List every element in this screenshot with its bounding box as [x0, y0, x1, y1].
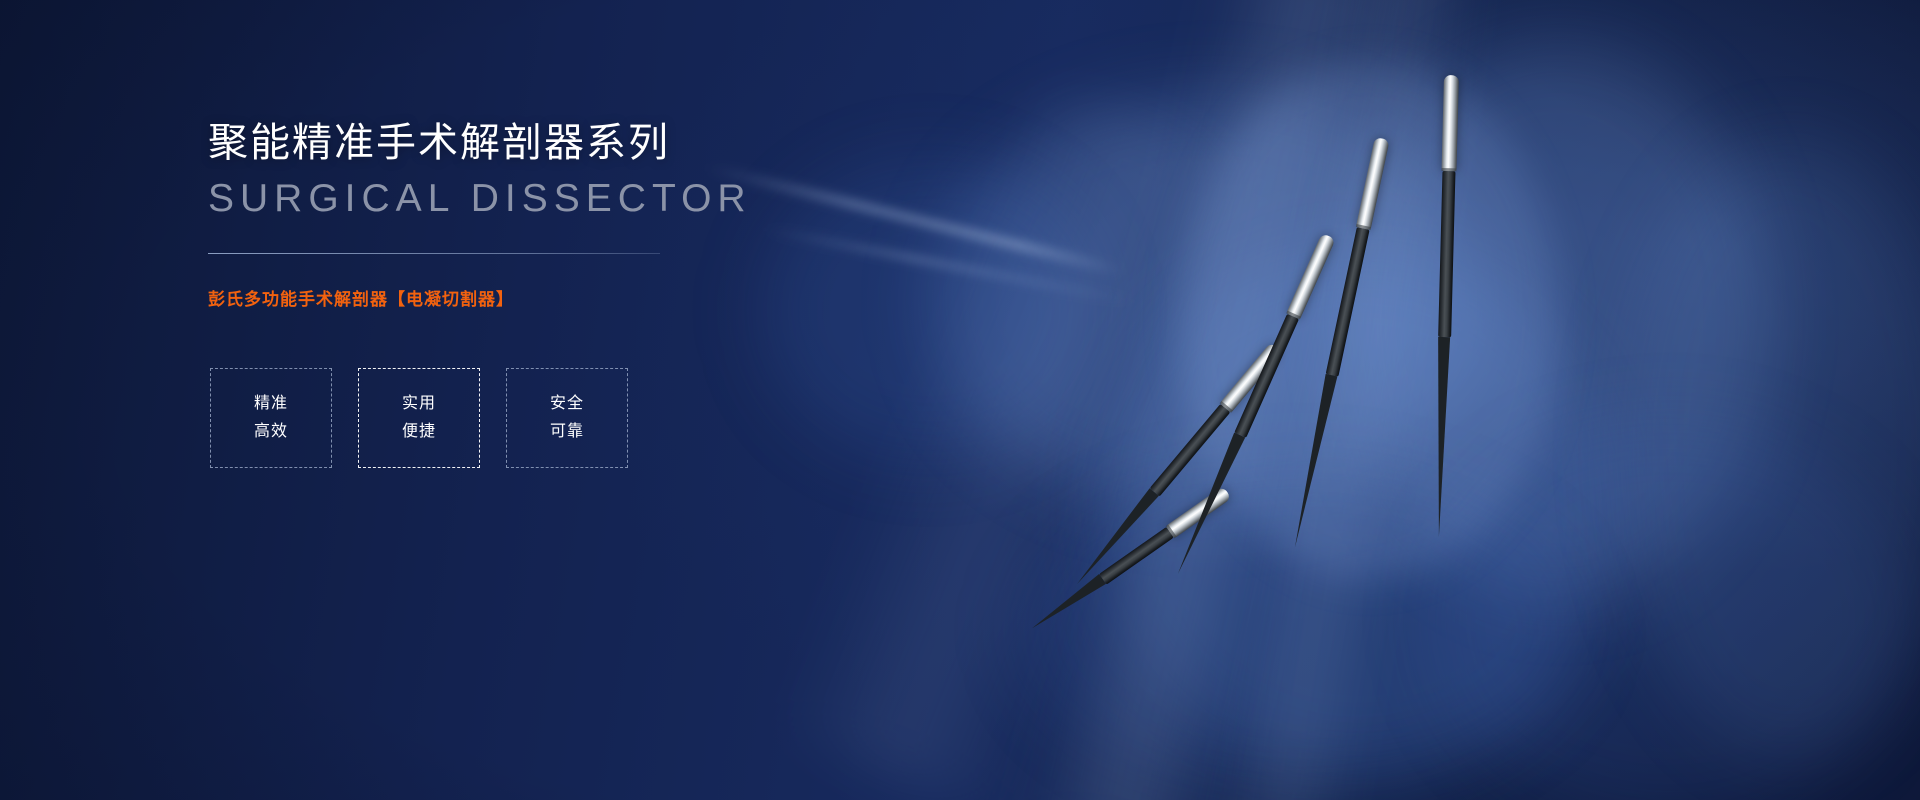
feature-box-3-line-2: 可靠 — [550, 418, 584, 446]
product-name-label: 彭氏多功能手术解剖器【电凝切割器】 — [208, 285, 908, 310]
banner-text-block: 聚能精准手术解剖器系列 SURGICAL DISSECTOR 彭氏多功能手术解剖… — [208, 118, 908, 310]
title-divider — [208, 253, 660, 254]
feature-box-2-line-2: 便捷 — [402, 418, 436, 446]
feature-box-3-line-1: 安全 — [550, 390, 584, 418]
feature-box-group: 精准 高效 实用 便捷 安全 可靠 — [210, 368, 628, 468]
feature-box-2[interactable]: 实用 便捷 — [358, 368, 480, 468]
feature-box-1-line-1: 精准 — [254, 390, 288, 418]
page-title: 聚能精准手术解剖器系列 — [208, 118, 908, 168]
feature-box-1[interactable]: 精准 高效 — [210, 368, 332, 468]
feature-box-2-line-1: 实用 — [402, 390, 436, 418]
feature-box-3[interactable]: 安全 可靠 — [506, 368, 628, 468]
page-subtitle-english: SURGICAL DISSECTOR — [208, 176, 908, 223]
product-hero-banner: 聚能精准手术解剖器系列 SURGICAL DISSECTOR 彭氏多功能手术解剖… — [0, 0, 1920, 800]
feature-box-1-line-2: 高效 — [254, 418, 288, 446]
